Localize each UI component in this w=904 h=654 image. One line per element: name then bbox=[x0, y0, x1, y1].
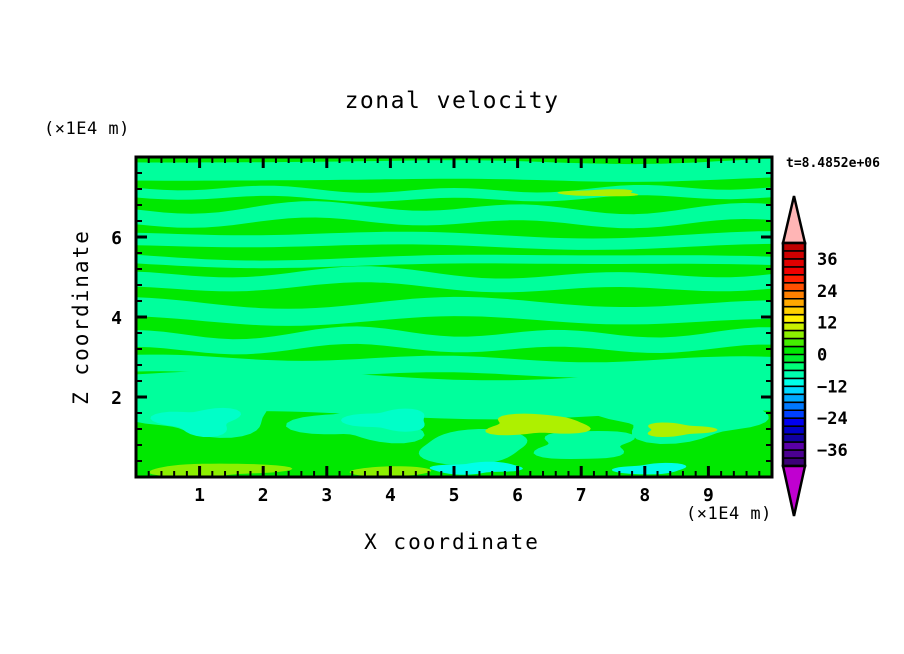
y-tick-label-6: 6 bbox=[111, 228, 122, 249]
colorbar-tick-label-36: 36 bbox=[817, 250, 837, 270]
x-tick-label-4: 4 bbox=[385, 485, 396, 506]
x-axis-title: X coordinate bbox=[364, 530, 540, 554]
colorbar-tick-label-12: 12 bbox=[817, 314, 837, 334]
x-tick-label-6: 6 bbox=[512, 485, 523, 506]
plot-area bbox=[117, 129, 772, 483]
colorbar-tick-label-24: 24 bbox=[817, 282, 837, 302]
x-tick-label-7: 7 bbox=[576, 485, 587, 506]
lower-sheet-x7 bbox=[534, 431, 636, 459]
x-unit-label: (×1E4 m) bbox=[686, 504, 772, 524]
y-tick-label-2: 2 bbox=[111, 388, 122, 409]
figure-canvas: zonal velocity (×1E4 m) t=8.4852e+06 123… bbox=[0, 0, 904, 654]
y-axis-title: Z coordinate bbox=[69, 229, 93, 405]
colorbar-tick-label-neg24: −24 bbox=[817, 409, 848, 429]
colorbar-tick-label-neg12: −12 bbox=[817, 377, 848, 397]
x-tick-label-9: 9 bbox=[703, 485, 714, 506]
colorbar-bands bbox=[783, 196, 805, 516]
contour-field bbox=[117, 129, 772, 483]
x-tick-label-8: 8 bbox=[639, 485, 650, 506]
x-tick-label-1: 1 bbox=[194, 485, 205, 506]
y-unit-label: (×1E4 m) bbox=[44, 119, 130, 139]
x-tick-label-2: 2 bbox=[258, 485, 269, 506]
contour-plot-figure: zonal velocity (×1E4 m) t=8.4852e+06 123… bbox=[0, 0, 904, 654]
time-annotation: t=8.4852e+06 bbox=[786, 156, 880, 171]
colorbar-tick-label-0: 0 bbox=[817, 346, 827, 366]
y-tick-label-4: 4 bbox=[111, 308, 122, 329]
x-tick-label-5: 5 bbox=[449, 485, 460, 506]
x-tick-label-3: 3 bbox=[321, 485, 332, 506]
page-title: zonal velocity bbox=[345, 88, 560, 114]
colorbar-tick-label-neg36: −36 bbox=[817, 441, 848, 461]
